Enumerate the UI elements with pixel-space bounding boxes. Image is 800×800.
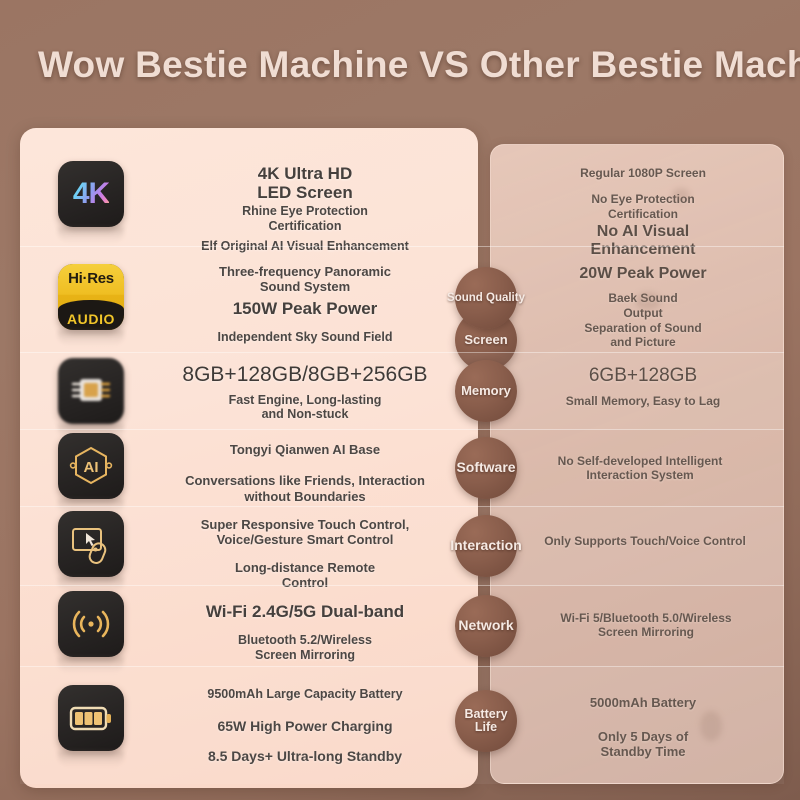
svg-text:AI: AI (84, 459, 99, 476)
own-cell-software: Tongyi Qianwen AI Base Conversations lik… (140, 442, 470, 504)
own-sub-2: Independent Sky Sound Field (140, 330, 470, 345)
own-sub-2: 65W High Power Charging (140, 718, 470, 735)
page-title-text: Wow Bestie Machine VS Other Bestie Machi… (38, 44, 800, 86)
other-headline: Regular 1080P Screen (512, 166, 774, 180)
ai-hexagon-art: AI (67, 443, 115, 489)
own-sub-1: Bluetooth 5.2/Wireless Screen Mirroring (140, 633, 470, 663)
memory-chip-icon (58, 358, 124, 424)
category-label: Battery Life (464, 708, 507, 735)
own-cell-battery: 9500mAh Large Capacity Battery 65W High … (140, 687, 470, 765)
comparison-row: 8GB+128GB/8GB+256GB Fast Engine, Long-la… (0, 353, 800, 429)
other-sub-1: Only 5 Days of Standby Time (512, 729, 774, 760)
own-sub-1: Rhine Eye Protection Certification (140, 204, 470, 234)
other-headline: 20W Peak Power (512, 265, 774, 283)
memory-chip-art (69, 371, 113, 411)
icon-reflection (58, 227, 124, 243)
own-cell-screen: 4K Ultra HD LED Screen Rhine Eye Protect… (140, 164, 470, 253)
own-headline: Tongyi Qianwen AI Base (140, 442, 470, 457)
own-cell-memory: 8GB+128GB/8GB+256GB Fast Engine, Long-la… (140, 363, 470, 422)
comparison-row: 9500mAh Large Capacity Battery 65W High … (0, 667, 800, 784)
own-headline: Super Responsive Touch Control, Voice/Ge… (140, 517, 470, 548)
other-headline: 5000mAh Battery (512, 695, 774, 711)
hi-res-bottom-label: AUDIO (58, 300, 124, 330)
other-sub-1: No Self-developed Intelligent Interactio… (500, 454, 780, 483)
wifi-signal-art (68, 604, 114, 644)
own-headline: Three-frequency Panoramic Sound System (140, 264, 470, 295)
comparison-row: Super Responsive Touch Control, Voice/Ge… (0, 507, 800, 585)
own-sub-1: 150W Peak Power (140, 299, 470, 318)
comparison-row: 4K 4K Ultra HD LED Screen Rhine Eye Prot… (0, 144, 800, 246)
hi-res-audio-icon: Hi·Res AUDIO (58, 264, 124, 330)
4k-badge-icon: 4K (58, 161, 124, 227)
comparison-row: Hi·Res AUDIO Three-frequency Panoramic S… (0, 247, 800, 352)
other-cell-memory: 6GB+128GB Small Memory, Easy to Lag (512, 365, 774, 408)
own-sub-3: 8.5 Days+ Ultra-long Standby (140, 748, 470, 765)
other-sub-2: Separation of Sound and Picture (512, 321, 774, 350)
category-bubble-battery-life: Battery Life (455, 690, 517, 752)
own-headline: Wi-Fi 2.4G/5G Dual-band (140, 602, 470, 621)
4k-icon-label: 4K (73, 177, 109, 211)
own-cell-sound: Three-frequency Panoramic Sound System 1… (140, 264, 470, 344)
hi-res-top-label: Hi·Res (58, 270, 124, 287)
other-sub-1: No Eye Protection Certification (512, 192, 774, 221)
other-headline: 6GB+128GB (512, 365, 774, 387)
other-cell-battery: 5000mAh Battery Only 5 Days of Standby T… (512, 695, 774, 760)
other-cell-sound: 20W Peak Power Baek Sound Output Separat… (512, 265, 774, 350)
touch-remote-icon (58, 511, 124, 577)
touch-remote-art (67, 522, 115, 566)
icon-reflection (58, 330, 124, 346)
comparison-row: Wi-Fi 2.4G/5G Dual-band Bluetooth 5.2/Wi… (0, 586, 800, 666)
category-label: Memory (461, 384, 511, 398)
battery-full-icon (58, 685, 124, 751)
icon-reflection (58, 751, 124, 767)
category-bubble-sound-quality: Sound Quality (455, 267, 517, 329)
hi-res-audio-art: Hi·Res AUDIO (58, 264, 124, 330)
page-title: Wow Bestie Machine VS Other Bestie Machi… (0, 44, 800, 102)
other-cell-software: No Self-developed Intelligent Interactio… (500, 454, 780, 483)
own-headline: 4K Ultra HD LED Screen (140, 164, 470, 202)
category-bubble-memory: Memory (455, 360, 517, 422)
own-sub-1: Conversations like Friends, Interaction … (140, 473, 470, 504)
own-sub-1: Fast Engine, Long-lasting and Non-stuck (140, 393, 470, 423)
other-cell-network: Wi-Fi 5/Bluetooth 5.0/Wireless Screen Mi… (508, 611, 784, 640)
comparison-poster: Wow Bestie Machine VS Other Bestie Machi… (0, 0, 800, 800)
other-sub-1: Only Supports Touch/Voice Control (505, 534, 785, 548)
other-cell-interaction: Only Supports Touch/Voice Control (505, 534, 785, 548)
category-label: Network (458, 618, 513, 633)
ai-hexagon-icon: AI (58, 433, 124, 499)
own-headline: 8GB+128GB/8GB+256GB (140, 363, 470, 387)
own-sub-1: 9500mAh Large Capacity Battery (140, 687, 470, 702)
comparison-row: AI Tongyi Qianwen AI Base Conversations … (0, 430, 800, 506)
other-sub-1: Small Memory, Easy to Lag (512, 394, 774, 408)
wifi-signal-icon (58, 591, 124, 657)
other-sub-1: Wi-Fi 5/Bluetooth 5.0/Wireless Screen Mi… (508, 611, 784, 640)
own-cell-network: Wi-Fi 2.4G/5G Dual-band Bluetooth 5.2/Wi… (140, 602, 470, 663)
battery-full-art (67, 701, 115, 735)
own-cell-interaction: Super Responsive Touch Control, Voice/Ge… (140, 517, 470, 590)
other-sub-1: Baek Sound Output (512, 291, 774, 320)
